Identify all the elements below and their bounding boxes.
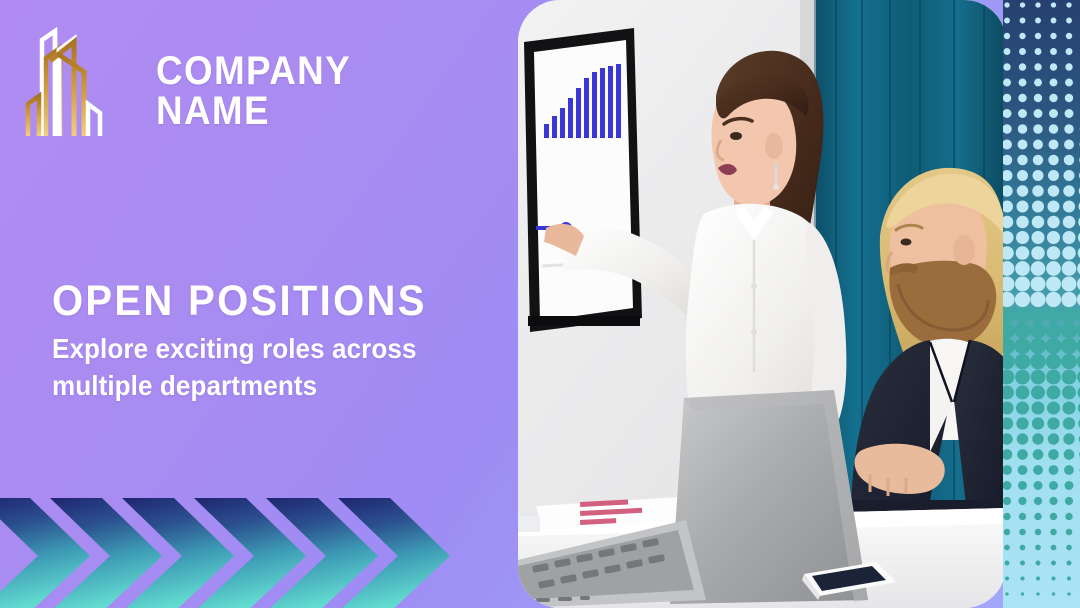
halftone-dot — [1016, 216, 1029, 229]
halftone-dot — [1018, 465, 1028, 475]
halftone-dot — [1062, 246, 1076, 260]
halftone-dot — [1031, 370, 1046, 385]
halftone-dot — [1018, 124, 1027, 133]
halftone-dot — [1032, 433, 1043, 444]
halftone-dot — [1034, 513, 1041, 520]
halftone-dot — [1018, 140, 1028, 150]
halftone-dot — [1065, 481, 1074, 490]
halftone-dot — [1005, 576, 1009, 580]
halftone-dot — [1049, 140, 1059, 150]
halftone-dot — [1061, 323, 1077, 339]
halftone-dot — [1063, 417, 1075, 429]
halftone-dot — [1048, 449, 1059, 460]
halftone-dot — [1065, 497, 1073, 505]
halftone-dot — [1050, 513, 1057, 520]
halftone-dot — [1065, 94, 1073, 102]
halftone-dot — [1018, 94, 1026, 102]
halftone-dot — [1004, 2, 1009, 7]
halftone-dot — [1031, 261, 1046, 276]
halftone-dot — [1003, 94, 1011, 102]
halftone-dot — [1003, 79, 1011, 87]
halftone-dot — [1015, 323, 1031, 339]
halftone-dot — [1049, 481, 1058, 490]
halftone-dot — [1019, 529, 1026, 536]
framed-whiteboard-with-bar-chart — [524, 28, 642, 332]
halftone-dot — [1018, 497, 1026, 505]
halftone-dot — [1065, 79, 1073, 87]
halftone-dot — [1050, 63, 1057, 70]
halftone-dot — [1062, 277, 1077, 292]
halftone-dot — [1015, 277, 1030, 292]
halftone-dot — [1034, 63, 1041, 70]
halftone-dot — [1065, 63, 1072, 70]
halftone-dot-panel — [1003, 0, 1080, 608]
halftone-dot — [1049, 497, 1057, 505]
halftone-dot — [1020, 18, 1026, 24]
brand-name-line-1: COMPANY — [156, 52, 351, 92]
halftone-dot — [1046, 261, 1061, 276]
halftone-dot — [1061, 338, 1077, 354]
halftone-dot — [1014, 338, 1030, 354]
halftone-dot — [1030, 307, 1046, 323]
halftone-dot — [1033, 140, 1043, 150]
halftone-dot — [1061, 307, 1077, 323]
halftone-dot — [1035, 2, 1040, 7]
halftone-dot — [1018, 481, 1027, 490]
halftone-dot — [1046, 370, 1061, 385]
halftone-dot — [1031, 401, 1044, 414]
halftone-dot — [1030, 323, 1046, 339]
halftone-dot — [1049, 109, 1058, 118]
halftone-dot — [1050, 48, 1057, 55]
halftone-dot — [1063, 185, 1074, 196]
halftone-dot — [1003, 513, 1010, 520]
halftone-dot — [1035, 33, 1041, 39]
halftone-dot — [1031, 231, 1044, 244]
halftone-dot — [1004, 545, 1010, 551]
halftone-dot — [1036, 576, 1040, 580]
building-skyline-icon — [22, 14, 142, 139]
page-title: OPEN POSITIONS — [52, 280, 461, 323]
halftone-dot — [1050, 79, 1058, 87]
headline-block: OPEN POSITIONS Explore exciting roles ac… — [52, 280, 492, 405]
halftone-dot — [1019, 33, 1025, 39]
halftone-dot — [1015, 292, 1030, 307]
halftone-dot — [1048, 201, 1060, 213]
halftone-dot — [1034, 481, 1043, 490]
halftone-dot — [1035, 48, 1042, 55]
halftone-dot — [1063, 201, 1075, 213]
halftone-dot — [1004, 48, 1011, 55]
halftone-dot — [1016, 246, 1030, 260]
halftone-dot — [1019, 48, 1026, 55]
halftone-dot — [1064, 449, 1075, 460]
brand-name-line-2: NAME — [156, 92, 351, 132]
halftone-dot — [1047, 231, 1060, 244]
chevron-arrow-strip — [0, 482, 458, 608]
halftone-dot — [1033, 170, 1044, 181]
halftone-dot — [1066, 545, 1072, 551]
halftone-dot — [1016, 386, 1030, 400]
halftone-dot — [1047, 401, 1060, 414]
halftone-dot — [1046, 354, 1062, 370]
halftone-dot — [1065, 513, 1072, 520]
halftone-dot — [1047, 417, 1059, 429]
halftone-dot — [1004, 529, 1011, 536]
page-subtitle: Explore exciting roles across multiple d… — [52, 331, 489, 405]
halftone-dot — [1066, 48, 1073, 55]
halftone-dot — [1051, 18, 1057, 24]
brand-logo: COMPANY NAME — [22, 14, 368, 139]
halftone-dot — [1063, 216, 1076, 229]
halftone-dot — [1048, 185, 1059, 196]
halftone-dot — [1035, 18, 1041, 24]
open-positions-banner: COMPANY NAME OPEN POSITIONS Explore exci… — [0, 0, 1080, 608]
halftone-dot — [1020, 545, 1026, 551]
halftone-dot — [1003, 497, 1011, 505]
halftone-dot — [1065, 109, 1074, 118]
halftone-dot — [1017, 201, 1029, 213]
halftone-dot — [1067, 561, 1072, 566]
halftone-dot — [1062, 231, 1075, 244]
halftone-dot — [1046, 307, 1062, 323]
halftone-dot — [1035, 529, 1042, 536]
halftone-dot — [1061, 354, 1077, 370]
halftone-dot — [1033, 465, 1043, 475]
halftone-dot — [1061, 292, 1076, 307]
halftone-dot — [1066, 529, 1073, 536]
halftone-dot — [1067, 592, 1070, 595]
halftone-dot — [1031, 246, 1045, 260]
halftone-dot — [1064, 140, 1074, 150]
halftone-dot — [1020, 561, 1025, 566]
halftone-dot — [1048, 170, 1059, 181]
halftone-dot — [1017, 433, 1028, 444]
halftone-dot — [1034, 497, 1042, 505]
halftone-dot — [1062, 370, 1077, 385]
halftone-dot — [1046, 277, 1061, 292]
halftone-dot — [1066, 18, 1072, 24]
halftone-dot — [1003, 63, 1010, 70]
halftone-dot — [1050, 529, 1057, 536]
halftone-dot — [1048, 155, 1058, 165]
halftone-dot — [1004, 18, 1010, 24]
halftone-dot — [1019, 79, 1027, 87]
halftone-dot — [1015, 370, 1030, 385]
halftone-dot — [1017, 155, 1027, 165]
halftone-dot — [1016, 401, 1029, 414]
halftone-dot — [1016, 231, 1029, 244]
halftone-dot — [1030, 292, 1045, 307]
halftone-dot — [1031, 277, 1046, 292]
halftone-dot — [1051, 576, 1055, 580]
halftone-dot — [1050, 33, 1056, 39]
halftone-dot — [1016, 417, 1028, 429]
halftone-dot — [1017, 185, 1028, 196]
halftone-dot — [1049, 94, 1057, 102]
halftone-dot — [1020, 576, 1024, 580]
halftone-dot — [1062, 261, 1077, 276]
halftone-dot — [1017, 449, 1028, 460]
halftone-dot — [1004, 33, 1010, 39]
halftone-dot — [1066, 33, 1072, 39]
halftone-dot — [1020, 2, 1025, 7]
halftone-dot — [1036, 592, 1039, 595]
halftone-dot — [1033, 155, 1043, 165]
halftone-dot — [1051, 561, 1056, 566]
halftone-dot — [1035, 545, 1041, 551]
halftone-dot — [1034, 109, 1043, 118]
halftone-dot — [1045, 338, 1061, 354]
halftone-dot — [1005, 592, 1008, 595]
halftone-dot — [1030, 354, 1046, 370]
halftone-dot — [1046, 323, 1062, 339]
halftone-dot — [1033, 449, 1044, 460]
halftone-dot — [1032, 185, 1043, 196]
halftone-dot — [1047, 386, 1061, 400]
halftone-dot — [1062, 386, 1076, 400]
halftone-dot — [1032, 216, 1045, 229]
halftone-dot — [1051, 2, 1056, 7]
halftone-dot — [1033, 124, 1042, 133]
halftone-dot — [1032, 201, 1044, 213]
halftone-dot — [1052, 592, 1055, 595]
halftone-dot — [1019, 513, 1026, 520]
halftone-dot — [1048, 433, 1059, 444]
halftone-dot — [1049, 124, 1058, 133]
halftone-dot — [1064, 170, 1075, 181]
halftone-dot — [1005, 561, 1010, 566]
halftone-dot — [1064, 465, 1074, 475]
halftone-dot — [1064, 124, 1073, 133]
halftone-dot — [1066, 2, 1071, 7]
halftone-dot — [1015, 307, 1031, 323]
halftone-dot — [1047, 246, 1061, 260]
halftone-dot — [1017, 170, 1028, 181]
halftone-dot — [1031, 386, 1045, 400]
halftone-dot — [1034, 79, 1042, 87]
halftone-dot — [1051, 545, 1057, 551]
hero-photo — [518, 0, 1006, 608]
halftone-dot — [1064, 155, 1074, 165]
halftone-dot — [1067, 576, 1071, 580]
halftone-dot — [1015, 354, 1031, 370]
halftone-dot — [1030, 338, 1046, 354]
halftone-dot — [1021, 592, 1024, 595]
halftone-dot — [1049, 465, 1059, 475]
halftone-dot — [1015, 261, 1030, 276]
halftone-dot — [1019, 63, 1026, 70]
halftone-dot — [1032, 417, 1044, 429]
halftone-dot — [1063, 433, 1074, 444]
halftone-dot — [1036, 561, 1041, 566]
halftone-dot — [1018, 109, 1027, 118]
halftone-dot — [1046, 292, 1061, 307]
brand-name: COMPANY NAME — [156, 14, 351, 131]
halftone-dot — [1062, 401, 1075, 414]
halftone-dot — [1047, 216, 1060, 229]
halftone-dot — [1034, 94, 1042, 102]
